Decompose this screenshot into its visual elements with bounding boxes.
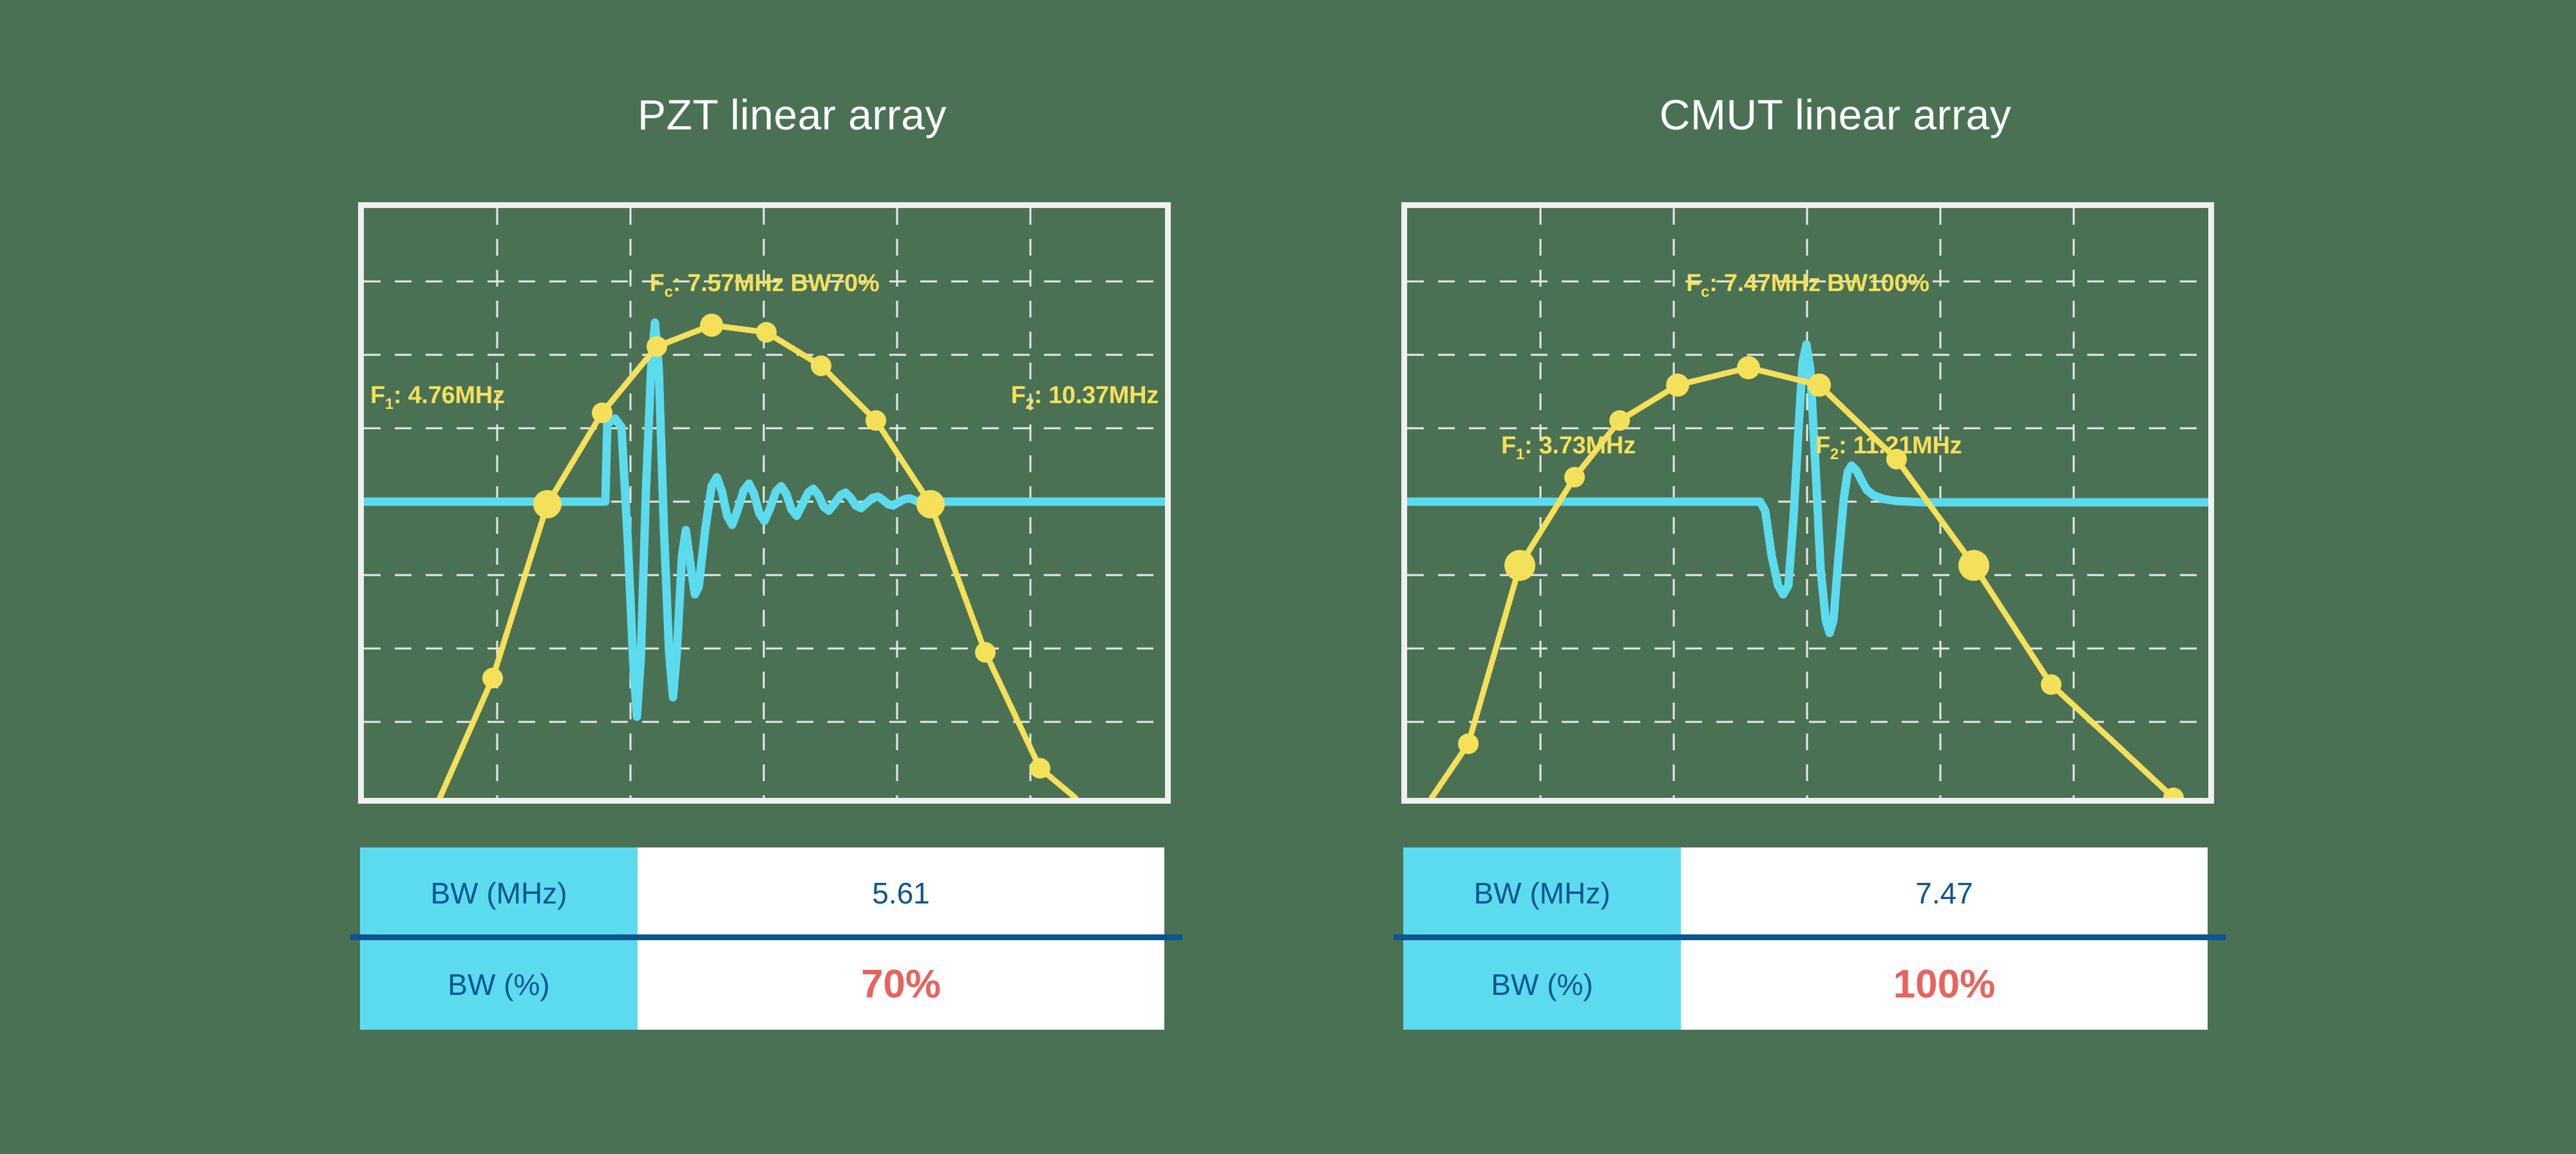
table-row: BW (%) 70% xyxy=(360,939,1164,1030)
annotation-f1-pzt: F1: 4.76MHz xyxy=(370,382,505,413)
table-cell-label: BW (%) xyxy=(360,939,638,1030)
page-title-cmut: CMUT linear array xyxy=(1288,90,2383,139)
table-cell-value: 7.47 xyxy=(1681,847,2208,938)
bw-percent-value: 100% xyxy=(1893,961,1996,1007)
table-cell-value: 100% xyxy=(1681,939,2208,1030)
page-title-pzt: PZT linear array xyxy=(245,90,1340,139)
annotation-f2-pzt: F2: 10.37MHz xyxy=(1011,382,1159,413)
table-cell-label: BW (MHz) xyxy=(1403,847,1681,938)
table-cell-label: BW (MHz) xyxy=(360,847,638,938)
frequency-response-curve-pzt xyxy=(440,325,1075,798)
annotation-f2-cmut: F2: 11.21MHz xyxy=(1815,432,1962,464)
bandwidth-table-pzt: BW (MHz) 5.61 BW (%) 70% xyxy=(360,847,1164,1030)
panel-pzt: PZT linear array xyxy=(245,0,1340,1154)
plot-frame-pzt: Fc: 7.57MHz BW70% F1: 4.76MHz F2: 10.37M… xyxy=(358,202,1171,804)
table-cell-value: 5.61 xyxy=(638,847,1164,938)
annotation-center-frequency-cmut: Fc: 7.47MHz BW100% xyxy=(1686,270,1929,301)
bw-mhz-value: 5.61 xyxy=(872,876,930,911)
annotation-f1-cmut: F1: 3.73MHz xyxy=(1501,432,1636,464)
table-row: BW (MHz) 7.47 xyxy=(1403,847,2208,938)
table-divider xyxy=(350,934,1182,940)
panel-cmut: CMUT linear array xyxy=(1288,0,2383,1154)
annotation-center-frequency-pzt: Fc: 7.57MHz BW70% xyxy=(650,270,880,301)
bandwidth-table-cmut: BW (MHz) 7.47 BW (%) 100% xyxy=(1403,847,2208,1030)
table-row: BW (%) 100% xyxy=(1403,939,2208,1030)
plot-frame-cmut: Fc: 7.47MHz BW100% F1: 3.73MHz F2: 11.21… xyxy=(1401,202,2214,804)
table-cell-label: BW (%) xyxy=(1403,939,1681,1030)
plot-area-cmut: Fc: 7.47MHz BW100% F1: 3.73MHz F2: 11.21… xyxy=(1407,208,2208,798)
bw-mhz-value: 7.47 xyxy=(1915,876,1973,911)
plot-area-pzt: Fc: 7.57MHz BW70% F1: 4.76MHz F2: 10.37M… xyxy=(364,208,1165,798)
frequency-response-markers-pzt xyxy=(482,314,1050,779)
bw-percent-value: 70% xyxy=(861,961,941,1007)
table-cell-value: 70% xyxy=(638,939,1164,1030)
table-divider xyxy=(1394,934,2226,940)
table-row: BW (MHz) 5.61 xyxy=(360,847,1164,938)
